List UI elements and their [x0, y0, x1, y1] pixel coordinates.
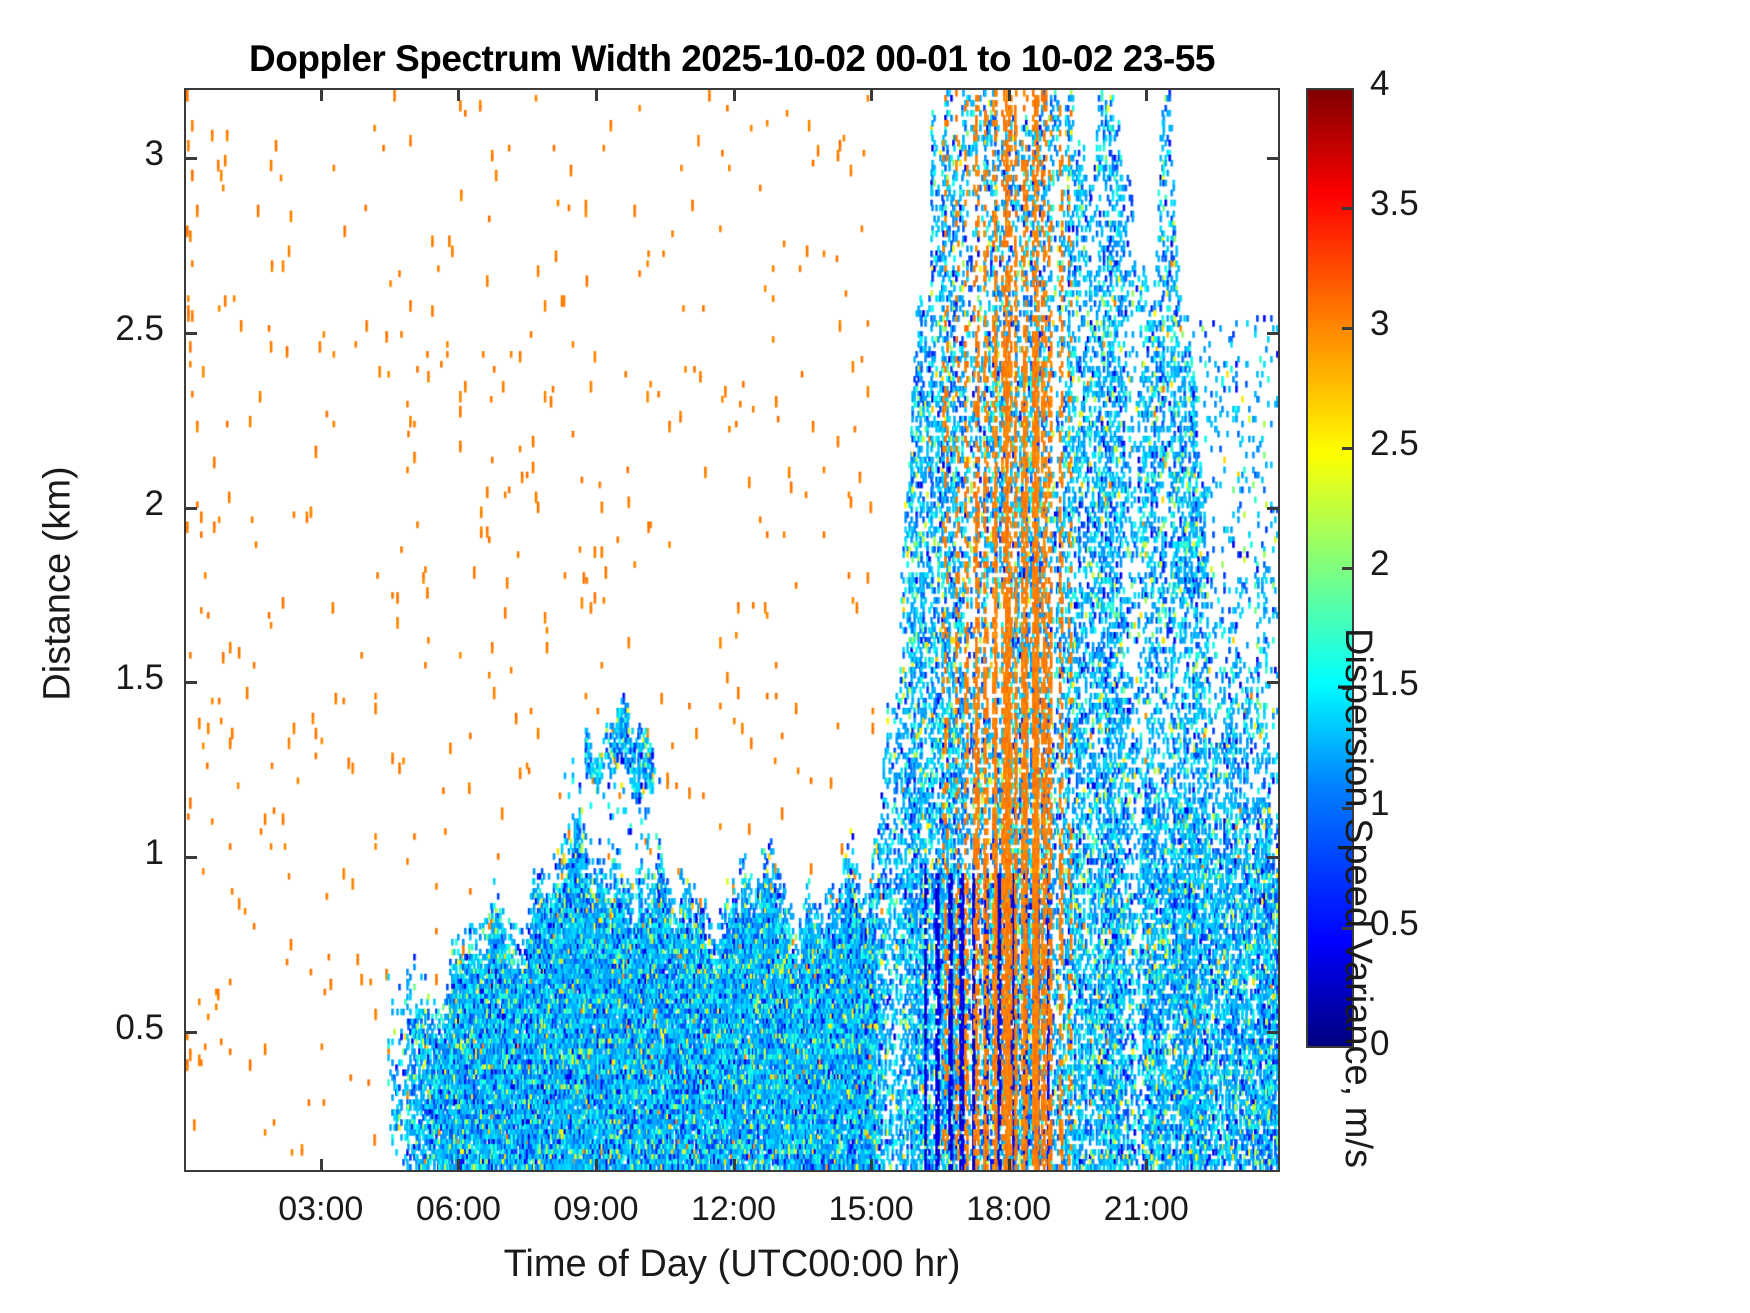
x-tick-mark: [733, 1159, 736, 1172]
colorbar-tick-label: 3.5: [1370, 184, 1419, 224]
y-tick-mark-right: [1267, 681, 1280, 684]
doppler-spectrum-width-heatmap: [186, 90, 1278, 1170]
x-tick-mark: [320, 1159, 323, 1172]
y-tick-label: 1: [0, 833, 164, 873]
y-tick-mark-right: [1267, 507, 1280, 510]
colorbar-tick-label: 2.5: [1370, 424, 1419, 464]
colorbar-label: Dispersion Speed Variance, m/s: [1336, 518, 1379, 1278]
heatmap-plot-area: [184, 88, 1280, 1172]
colorbar-tick-mark: [1342, 207, 1354, 210]
y-tick-label: 2.5: [0, 309, 164, 349]
x-tick-mark: [1008, 1159, 1011, 1172]
y-tick-label: 2: [0, 484, 164, 524]
colorbar-tick-mark: [1342, 447, 1354, 450]
x-tick-mark-top: [320, 88, 323, 101]
colorbar-tick-label: 4: [1370, 64, 1389, 104]
y-tick-mark-right: [1267, 1031, 1280, 1034]
x-tick-mark-top: [595, 88, 598, 101]
y-tick-mark: [184, 332, 197, 335]
x-axis-label: Time of Day (UTC00:00 hr): [184, 1243, 1280, 1286]
y-tick-label: 0.5: [0, 1008, 164, 1048]
y-tick-mark: [184, 681, 197, 684]
x-tick-label: 21:00: [1036, 1190, 1256, 1229]
y-tick-mark-right: [1267, 856, 1280, 859]
x-tick-mark-top: [1145, 88, 1148, 101]
x-tick-mark-top: [1008, 88, 1011, 101]
y-tick-label: 3: [0, 134, 164, 174]
figure-root: Doppler Spectrum Width 2025-10-02 00-01 …: [0, 0, 1750, 1313]
y-tick-mark: [184, 157, 197, 160]
colorbar-tick-mark: [1342, 327, 1354, 330]
x-tick-mark: [457, 1159, 460, 1172]
y-tick-mark-right: [1267, 157, 1280, 160]
x-tick-mark-top: [733, 88, 736, 101]
y-tick-mark: [184, 856, 197, 859]
colorbar-tick-label: 3: [1370, 304, 1389, 344]
x-tick-mark: [1145, 1159, 1148, 1172]
y-axis-label: Distance (km): [37, 304, 80, 864]
x-tick-mark-top: [870, 88, 873, 101]
y-tick-mark: [184, 1031, 197, 1034]
y-tick-mark: [184, 507, 197, 510]
page-title: Doppler Spectrum Width 2025-10-02 00-01 …: [184, 38, 1280, 80]
x-tick-mark: [870, 1159, 873, 1172]
y-tick-label: 1.5: [0, 658, 164, 698]
x-tick-mark: [595, 1159, 598, 1172]
y-tick-mark-right: [1267, 332, 1280, 335]
x-tick-mark-top: [457, 88, 460, 101]
